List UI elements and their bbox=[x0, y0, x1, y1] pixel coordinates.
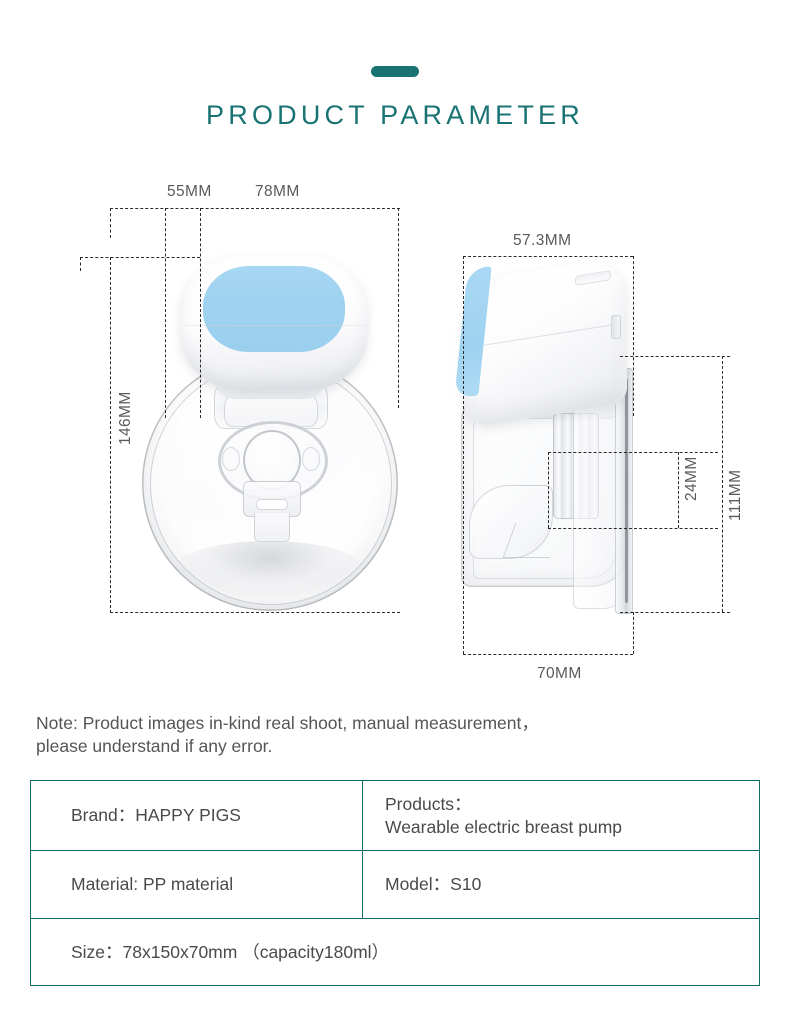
spec-cell-model: Model：S10 bbox=[363, 851, 759, 918]
dim-line-78-right bbox=[398, 208, 399, 408]
dim-line-55-left bbox=[165, 208, 166, 418]
spec-material-value: Material: PP material bbox=[71, 873, 348, 896]
front-flange-tab-left bbox=[222, 447, 240, 471]
dim-line-24-top bbox=[548, 452, 718, 453]
side-back-wall-edge bbox=[625, 379, 628, 603]
spec-table: Brand：HAPPY PIGS Products： Wearable elec… bbox=[30, 780, 760, 986]
dim-line-55-right bbox=[200, 208, 201, 418]
spec-size-value: Size：78x150x70mm （capacity180ml） bbox=[71, 941, 745, 964]
front-valve-slot bbox=[256, 499, 288, 510]
dimension-label-78mm: 78MM bbox=[255, 183, 300, 201]
spec-model-value: Model：S10 bbox=[385, 873, 745, 896]
dim-line-57-right bbox=[633, 256, 634, 416]
front-motor-blue-panel bbox=[203, 266, 345, 352]
dim-line-70-right bbox=[633, 612, 634, 654]
front-bowl-gloss bbox=[174, 541, 364, 597]
dim-line-bottom-front bbox=[110, 612, 400, 613]
dim-line-24-left bbox=[548, 452, 549, 528]
dim-line-top-front bbox=[110, 208, 400, 209]
spec-brand-value: Brand：HAPPY PIGS bbox=[71, 804, 348, 827]
dim-line-146-tick bbox=[80, 257, 81, 271]
product-diagram-area: 55MM 78MM 146MM bbox=[0, 160, 790, 700]
dim-line-57-left bbox=[463, 256, 464, 654]
dim-line-111-right bbox=[722, 356, 723, 612]
dim-line-146-left bbox=[110, 257, 111, 613]
spec-cell-material: Material: PP material bbox=[31, 851, 363, 918]
dimension-label-57-3mm: 57.3MM bbox=[513, 232, 571, 250]
spec-cell-brand: Brand：HAPPY PIGS bbox=[31, 781, 363, 850]
dim-line-top-side bbox=[463, 256, 633, 257]
table-row: Size：78x150x70mm （capacity180ml） bbox=[31, 919, 759, 985]
dim-line-78-left-stub bbox=[110, 208, 111, 238]
table-row: Brand：HAPPY PIGS Products： Wearable elec… bbox=[31, 781, 759, 851]
dimension-label-111mm: 111MM bbox=[727, 470, 745, 521]
side-back-wall bbox=[615, 368, 633, 614]
note-line-2: please understand if any error. bbox=[36, 735, 736, 758]
front-view-product-image bbox=[130, 255, 410, 615]
front-motor-seam bbox=[182, 325, 366, 326]
dim-line-111-bottom bbox=[620, 612, 730, 613]
spec-cell-products: Products： Wearable electric breast pump bbox=[363, 781, 759, 850]
dim-line-upper-left-front bbox=[80, 257, 200, 258]
dim-line-24-bottom bbox=[548, 528, 718, 529]
dim-line-111-top bbox=[620, 356, 730, 357]
title-accent-pill bbox=[371, 66, 419, 77]
table-row: Material: PP material Model：S10 bbox=[31, 851, 759, 919]
note-text: Note: Product images in-kind real shoot,… bbox=[36, 712, 736, 758]
spec-cell-size: Size：78x150x70mm （capacity180ml） bbox=[31, 919, 759, 985]
dim-line-70-bottom bbox=[463, 654, 633, 655]
note-line-1: Note: Product images in-kind real shoot,… bbox=[36, 712, 736, 735]
dim-line-24-right bbox=[678, 452, 679, 528]
spec-products-value: Wearable electric breast pump bbox=[385, 816, 745, 839]
front-valve-stem bbox=[254, 513, 290, 542]
page-title: PRODUCT PARAMETER bbox=[0, 100, 790, 131]
dimension-label-55mm: 55MM bbox=[167, 183, 212, 201]
side-control-button bbox=[611, 315, 621, 339]
spec-products-label: Products： bbox=[385, 793, 745, 816]
front-flange-tab-right bbox=[302, 447, 320, 471]
